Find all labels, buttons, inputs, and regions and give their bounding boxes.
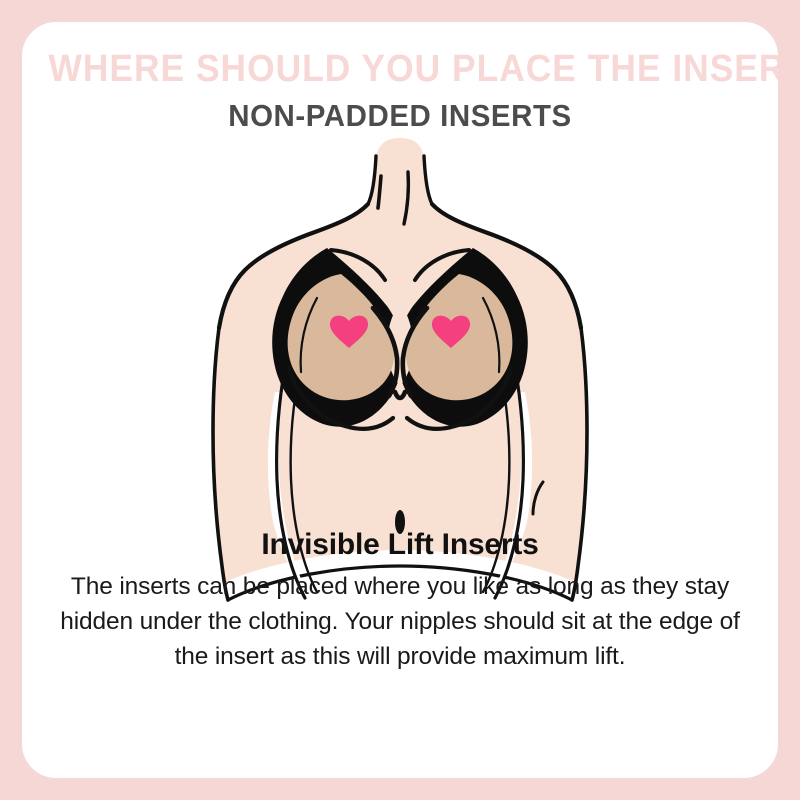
caption-heading: Invisible Lift Inserts: [22, 530, 778, 560]
caption-body: The inserts can be placed where you like…: [50, 570, 750, 674]
content-panel: WHERE SHOULD YOU PLACE THE INSERTS NON-P…: [22, 22, 778, 778]
infographic-card: WHERE SHOULD YOU PLACE THE INSERTS NON-P…: [0, 0, 800, 800]
page-title: WHERE SHOULD YOU PLACE THE INSERTS: [48, 50, 751, 88]
page-subtitle: NON-PADDED INSERTS: [41, 100, 759, 131]
